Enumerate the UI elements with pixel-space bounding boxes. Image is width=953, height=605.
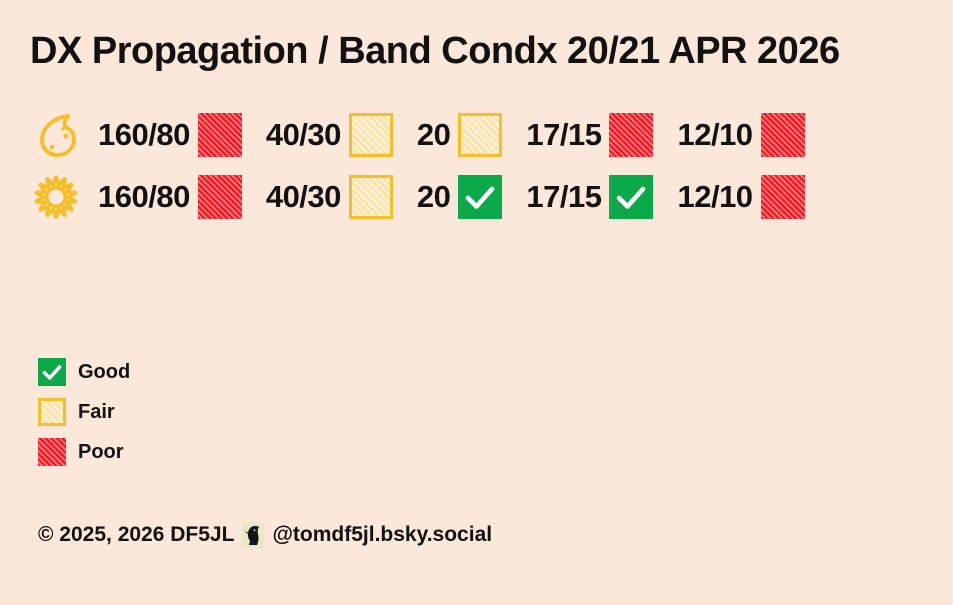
band-label: 17/15: [526, 117, 601, 153]
band-label: 20: [417, 179, 450, 215]
legend-swatch-fair: [38, 398, 66, 426]
band-cell: 12/10: [677, 175, 804, 219]
band-row-night: 160/8040/302017/1512/10: [28, 104, 805, 166]
condition-swatch-good: [609, 175, 653, 219]
band-row-day: 160/8040/302017/1512/10: [28, 166, 805, 228]
bluesky-handle: @tomdf5jl.bsky.social: [272, 523, 492, 547]
condition-swatch-poor: [761, 113, 805, 157]
band-label: 160/80: [98, 179, 190, 215]
page-title: DX Propagation / Band Condx 20/21 APR 20…: [30, 30, 840, 73]
condition-swatch-poor: [609, 113, 653, 157]
band-cell: 20: [417, 175, 502, 219]
band-label: 160/80: [98, 117, 190, 153]
condition-swatch-poor: [198, 113, 242, 157]
condition-swatch-fair: [349, 113, 393, 157]
band-label: 20: [417, 117, 450, 153]
legend-swatch-good: [38, 358, 66, 386]
band-label: 12/10: [677, 117, 752, 153]
band-cell: 40/30: [266, 175, 393, 219]
band-label: 40/30: [266, 179, 341, 215]
sun-icon: [28, 171, 98, 223]
condition-swatch-fair: [458, 113, 502, 157]
bird-icon: [242, 522, 264, 548]
band-label: 12/10: [677, 179, 752, 215]
legend: GoodFairPoor: [38, 352, 130, 472]
band-cell: 17/15: [526, 113, 653, 157]
band-label: 17/15: [526, 179, 601, 215]
band-cell: 160/80: [98, 175, 242, 219]
condition-swatch-fair: [349, 175, 393, 219]
condition-swatch-good: [458, 175, 502, 219]
band-cell: 20: [417, 113, 502, 157]
condition-swatch-poor: [198, 175, 242, 219]
condition-swatch-poor: [761, 175, 805, 219]
band-cell: 17/15: [526, 175, 653, 219]
legend-label: Poor: [78, 441, 124, 464]
band-label: 40/30: [266, 117, 341, 153]
legend-item: Fair: [38, 392, 130, 432]
band-cell: 40/30: [266, 113, 393, 157]
copyright-text: © 2025, 2026 DF5JL: [38, 523, 234, 547]
moon-icon: [28, 109, 98, 161]
legend-label: Good: [78, 361, 130, 384]
band-cell: 160/80: [98, 113, 242, 157]
legend-item: Good: [38, 352, 130, 392]
band-conditions-table: 160/8040/302017/1512/10160/8040/302017/1…: [28, 104, 805, 228]
legend-label: Fair: [78, 401, 115, 424]
legend-swatch-poor: [38, 438, 66, 466]
footer: © 2025, 2026 DF5JL @tomdf5jl.bsky.social: [38, 522, 492, 548]
band-cell: 12/10: [677, 113, 804, 157]
legend-item: Poor: [38, 432, 130, 472]
